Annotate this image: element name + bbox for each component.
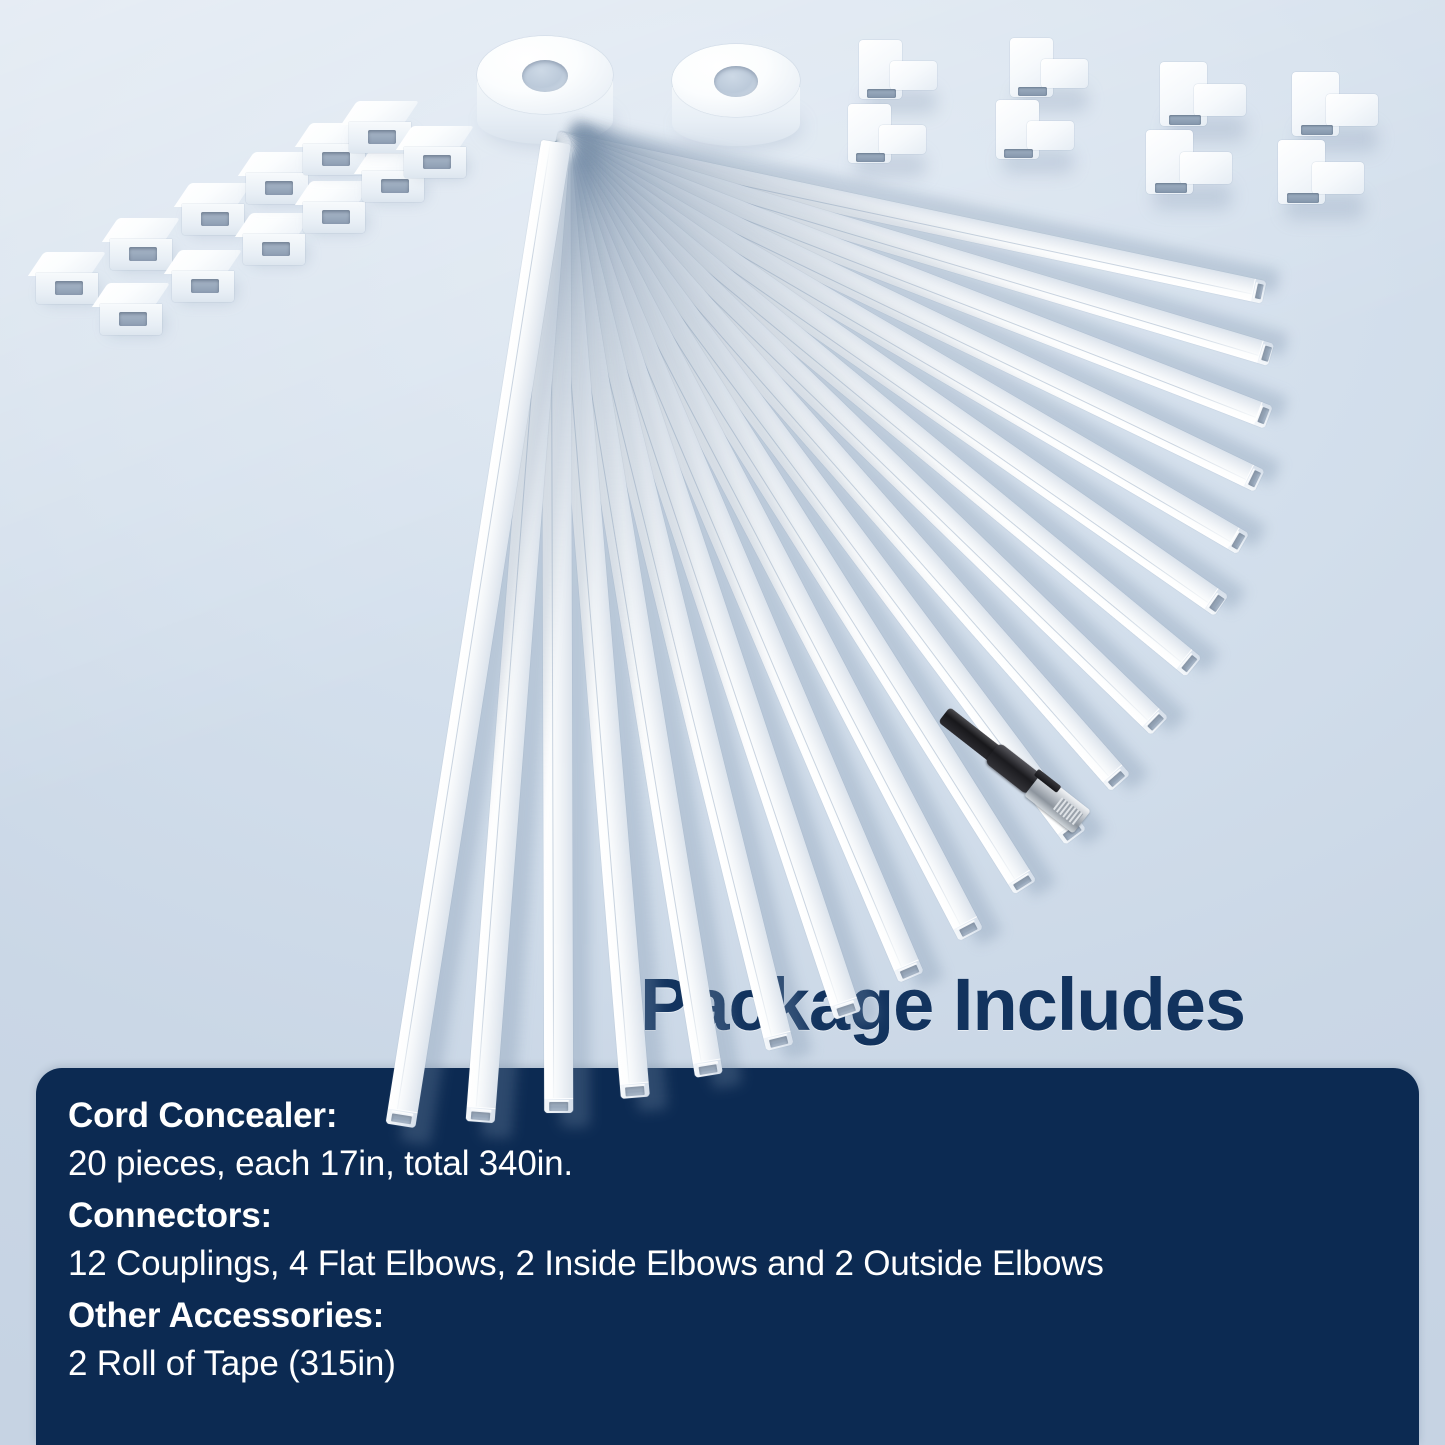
- flat-elbow: [859, 40, 937, 114]
- coupling-sleeve: [404, 126, 466, 178]
- tape-roll-core: [714, 66, 758, 97]
- coupling-bore: [129, 247, 158, 261]
- coupling-bore: [191, 279, 220, 293]
- coupling-bore: [55, 281, 84, 295]
- elbow-bore: [856, 153, 886, 163]
- coupling-sleeve: [303, 181, 365, 233]
- package-includes-list: Cord Concealer:20 pieces, each 17in, tot…: [68, 1098, 1393, 1381]
- elbow-arm-horizontal: [1326, 94, 1378, 126]
- inside-elbow: [1146, 130, 1232, 210]
- tape-roll: [672, 44, 800, 146]
- coupling-sleeve: [36, 252, 98, 304]
- strip-channel-bore: [549, 1102, 568, 1110]
- package-item-detail: 2 Roll of Tape (315in): [68, 1346, 1393, 1381]
- coupling-bore: [119, 312, 148, 326]
- coupling-bore: [423, 155, 452, 169]
- elbow-bore: [1004, 149, 1034, 159]
- elbow-bore: [1287, 193, 1320, 203]
- elbow-bore: [1301, 125, 1334, 135]
- coupling-sleeve: [243, 213, 305, 265]
- coupling-bore: [381, 179, 410, 193]
- coupling-bore: [201, 212, 230, 226]
- coupling-sleeve: [246, 152, 308, 204]
- elbow-arm-horizontal: [890, 61, 937, 91]
- flat-elbow: [848, 104, 926, 178]
- package-item-detail: 12 Couplings, 4 Flat Elbows, 2 Inside El…: [68, 1246, 1393, 1281]
- coupling-sleeve: [172, 250, 234, 302]
- tape-roll-core: [522, 60, 568, 92]
- elbow-arm-horizontal: [1027, 121, 1074, 151]
- elbow-arm-horizontal: [879, 125, 926, 155]
- package-item-heading: Cord Concealer:: [68, 1098, 1393, 1133]
- elbow-arm-horizontal: [1194, 84, 1246, 116]
- strip-channel-bore: [471, 1111, 491, 1121]
- package-item-heading: Other Accessories:: [68, 1298, 1393, 1333]
- product-image-stage: Package Includes Cord Concealer:20 piece…: [0, 0, 1445, 1445]
- flat-elbow: [996, 100, 1074, 174]
- coupling-bore: [322, 152, 351, 166]
- coupling-bore: [262, 242, 291, 256]
- elbow-bore: [1169, 115, 1202, 125]
- coupling-sleeve: [110, 218, 172, 270]
- strip-channel-bore: [625, 1086, 644, 1096]
- coupling-bore: [265, 181, 294, 195]
- elbow-arm-horizontal: [1041, 59, 1088, 89]
- elbow-arm-horizontal: [1180, 152, 1232, 184]
- elbow-bore: [1155, 183, 1188, 193]
- elbow-bore: [1018, 87, 1048, 97]
- outside-elbow: [1278, 140, 1364, 220]
- package-item-detail: 20 pieces, each 17in, total 340in.: [68, 1146, 1393, 1181]
- elbow-arm-horizontal: [1312, 162, 1364, 194]
- package-includes-panel: Cord Concealer:20 pieces, each 17in, tot…: [36, 1068, 1419, 1445]
- package-item-heading: Connectors:: [68, 1198, 1393, 1233]
- coupling-bore: [322, 210, 351, 224]
- coupling-sleeve: [100, 283, 162, 335]
- elbow-bore: [867, 89, 897, 99]
- coupling-bore: [368, 130, 397, 144]
- coupling-sleeve: [182, 183, 244, 235]
